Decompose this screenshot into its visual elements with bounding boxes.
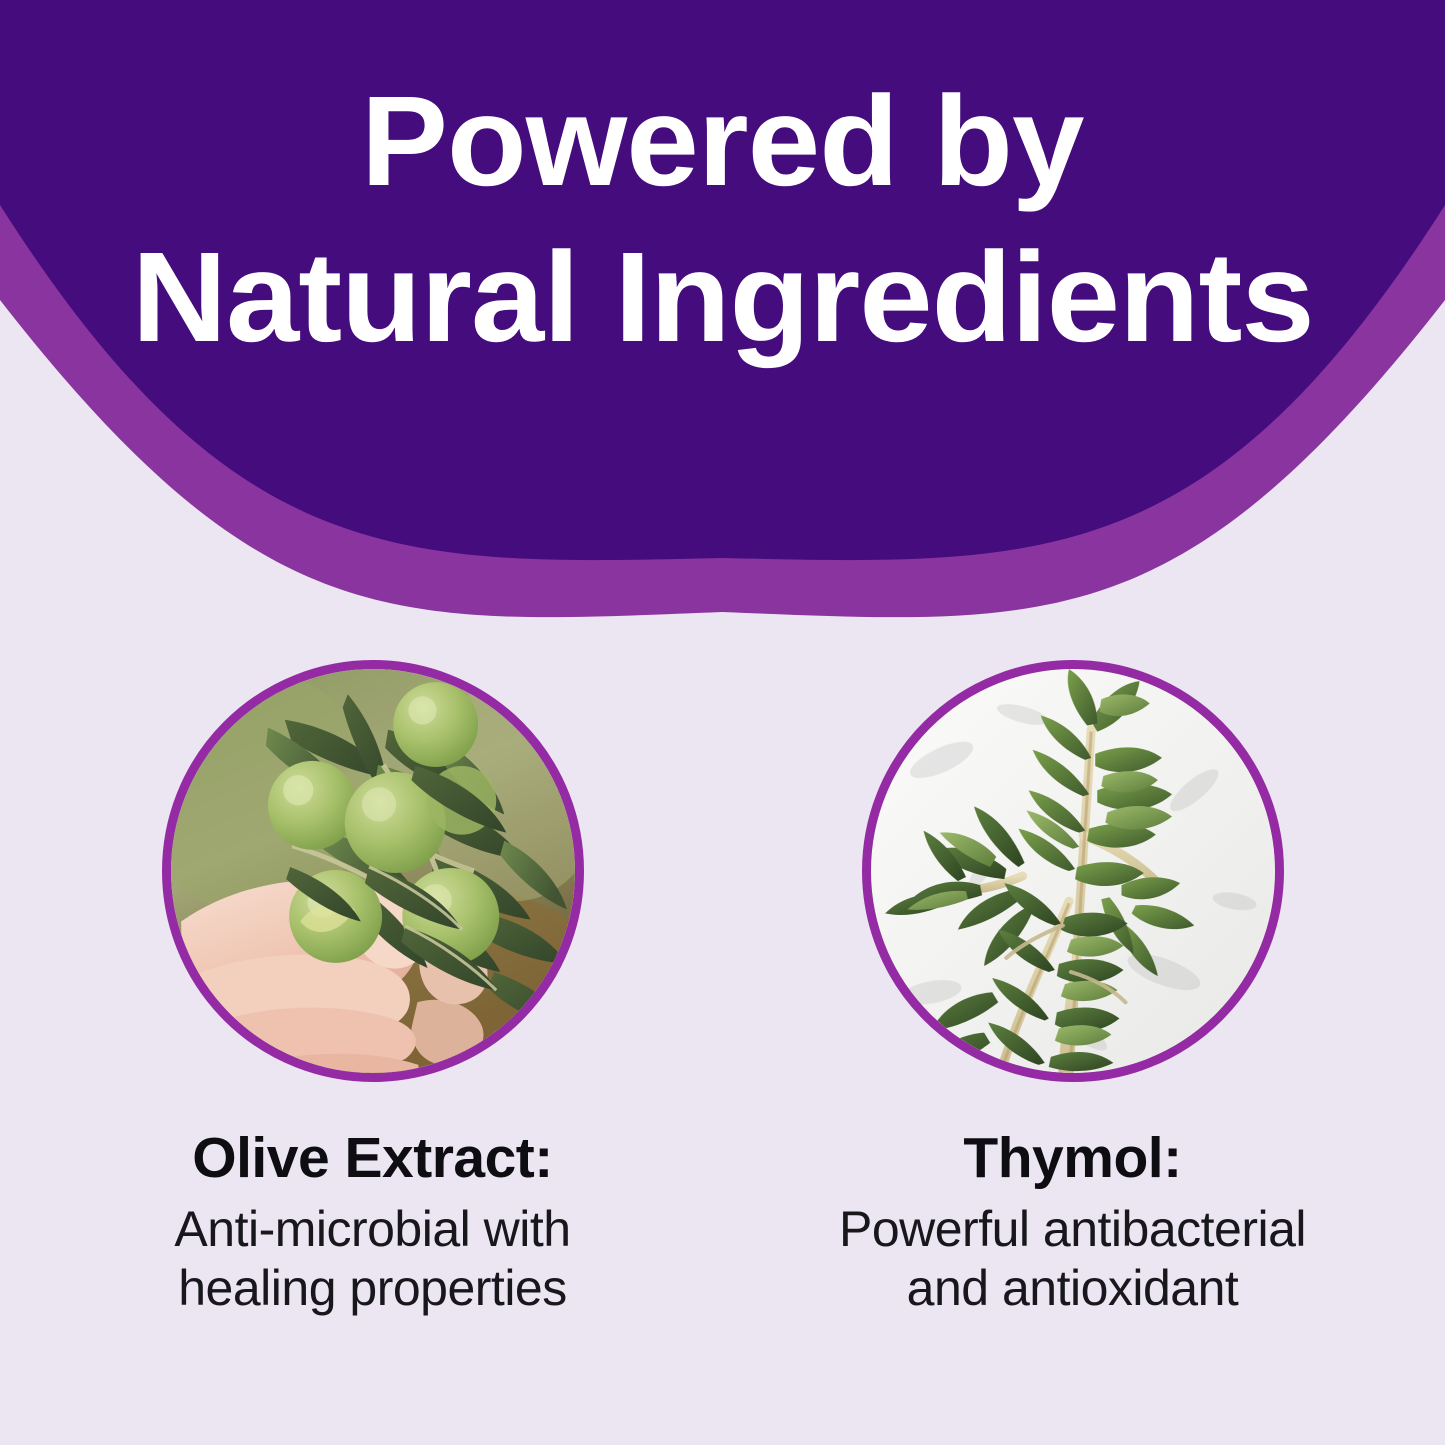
olive-description: Anti-microbial with healing properties [43,1200,703,1318]
thymol-photo-ring [862,660,1284,1082]
ingredient-card-list: Olive Extract: Anti-microbial with heali… [0,660,1445,1318]
olive-photo [171,669,575,1073]
ingredient-card-thymol: Thymol: Powerful antibacterial and antio… [723,660,1423,1318]
ingredients-poster: Powered by Natural Ingredients [0,0,1445,1445]
thymol-caption: Thymol: Powerful antibacterial and antio… [743,1128,1403,1318]
olive-title: Olive Extract: [43,1128,703,1190]
thymol-description: Powerful antibacterial and antioxidant [743,1200,1403,1318]
olive-description-line-2: healing properties [43,1259,703,1318]
thymol-description-line-1: Powerful antibacterial [743,1200,1403,1259]
olive-photo-ring [162,660,584,1082]
olive-caption: Olive Extract: Anti-microbial with heali… [43,1128,703,1318]
header-banner [0,0,1445,640]
thymol-title: Thymol: [743,1128,1403,1190]
ingredient-card-olive-extract: Olive Extract: Anti-microbial with heali… [23,660,723,1318]
thymol-description-line-2: and antioxidant [743,1259,1403,1318]
thymol-photo [871,669,1275,1073]
olive-description-line-1: Anti-microbial with [43,1200,703,1259]
